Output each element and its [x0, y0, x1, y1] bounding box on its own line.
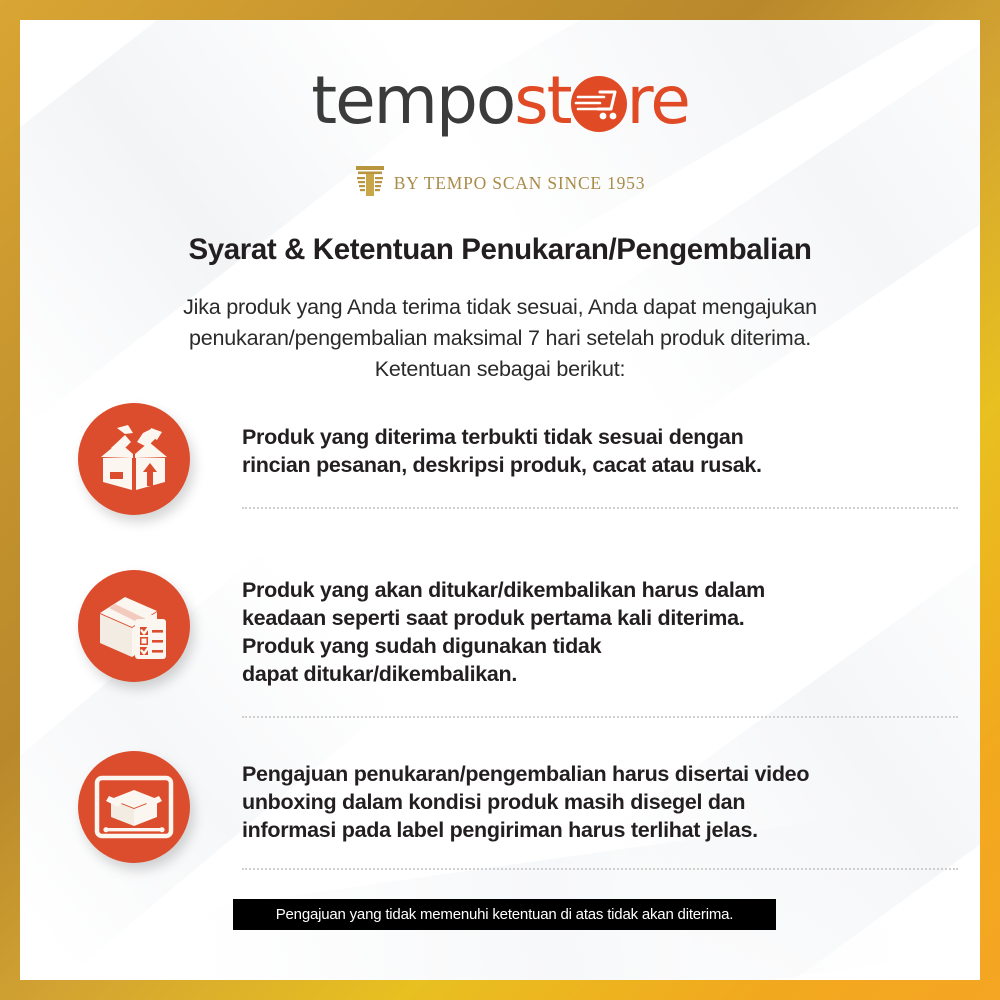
shopping-cart-icon: [570, 75, 628, 133]
list-item: Pengajuan penukaran/pengembalian harus d…: [20, 751, 980, 870]
intro-line: penukaran/pengembalian maksimal 7 hari s…: [130, 323, 870, 354]
wordmark-re: re: [627, 62, 689, 139]
damaged-open-box-icon: [78, 403, 190, 515]
intro-paragraph: Jika produk yang Anda terima tidak sesua…: [130, 292, 870, 385]
text-line: Produk yang diterima terbukti tidak sesu…: [242, 423, 980, 451]
wordmark-tempo: tempo: [311, 62, 514, 139]
text-line: keadaan seperti saat produk pertama kali…: [242, 604, 980, 632]
footer-note-text: Pengajuan yang tidak memenuhi ketentuan …: [276, 906, 734, 923]
item-divider: [242, 868, 958, 870]
list-item-body: Pengajuan penukaran/pengembalian harus d…: [190, 751, 980, 870]
brand-tagline: BY TEMPO SCAN SINCE 1953: [394, 173, 646, 194]
brand-wordmark: tempostre: [311, 68, 689, 134]
unboxing-video-icon: [78, 751, 190, 863]
poster-frame: tempostre BY TEMPO SCAN SINCE: [0, 0, 1000, 1000]
text-line: informasi pada label pengiriman harus te…: [242, 816, 980, 844]
text-line: dapat ditukar/dikembalikan.: [242, 660, 980, 688]
text-line: Produk yang sudah digunakan tidak: [242, 632, 980, 660]
list-item-body: Produk yang akan ditukar/dikembalikan ha…: [190, 570, 980, 718]
list-item: Produk yang akan ditukar/dikembalikan ha…: [20, 570, 980, 718]
wordmark-st: st: [514, 62, 570, 139]
text-line: Produk yang akan ditukar/dikembalikan ha…: [242, 576, 980, 604]
footer-note-banner: Pengajuan yang tidak memenuhi ketentuan …: [233, 899, 776, 930]
intro-line: Jika produk yang Anda terima tidak sesua…: [130, 292, 870, 323]
text-line: Pengajuan penukaran/pengembalian harus d…: [242, 760, 980, 788]
list-item-text: Pengajuan penukaran/pengembalian harus d…: [242, 760, 980, 844]
terms-list: Produk yang diterima terbukti tidak sesu…: [20, 403, 980, 870]
tempo-scan-pillar-icon: [355, 164, 385, 203]
list-item-body: Produk yang diterima terbukti tidak sesu…: [190, 403, 980, 509]
box-with-checklist-icon: [78, 570, 190, 682]
list-item-text: Produk yang akan ditukar/dikembalikan ha…: [242, 576, 980, 688]
item-divider: [242, 716, 958, 718]
brand-tagline-row: BY TEMPO SCAN SINCE 1953: [20, 164, 980, 203]
text-line: rincian pesanan, deskripsi produk, cacat…: [242, 451, 980, 479]
list-item-text: Produk yang diterima terbukti tidak sesu…: [242, 423, 980, 479]
text-line: unboxing dalam kondisi produk masih dise…: [242, 788, 980, 816]
poster-card: tempostre BY TEMPO SCAN SINCE: [20, 20, 980, 980]
brand-logo: tempostre: [20, 68, 980, 134]
page-title: Syarat & Ketentuan Penukaran/Pengembalia…: [20, 233, 980, 267]
list-item: Produk yang diterima terbukti tidak sesu…: [20, 403, 980, 515]
item-divider: [242, 507, 958, 509]
intro-line: Ketentuan sebagai berikut:: [130, 354, 870, 385]
